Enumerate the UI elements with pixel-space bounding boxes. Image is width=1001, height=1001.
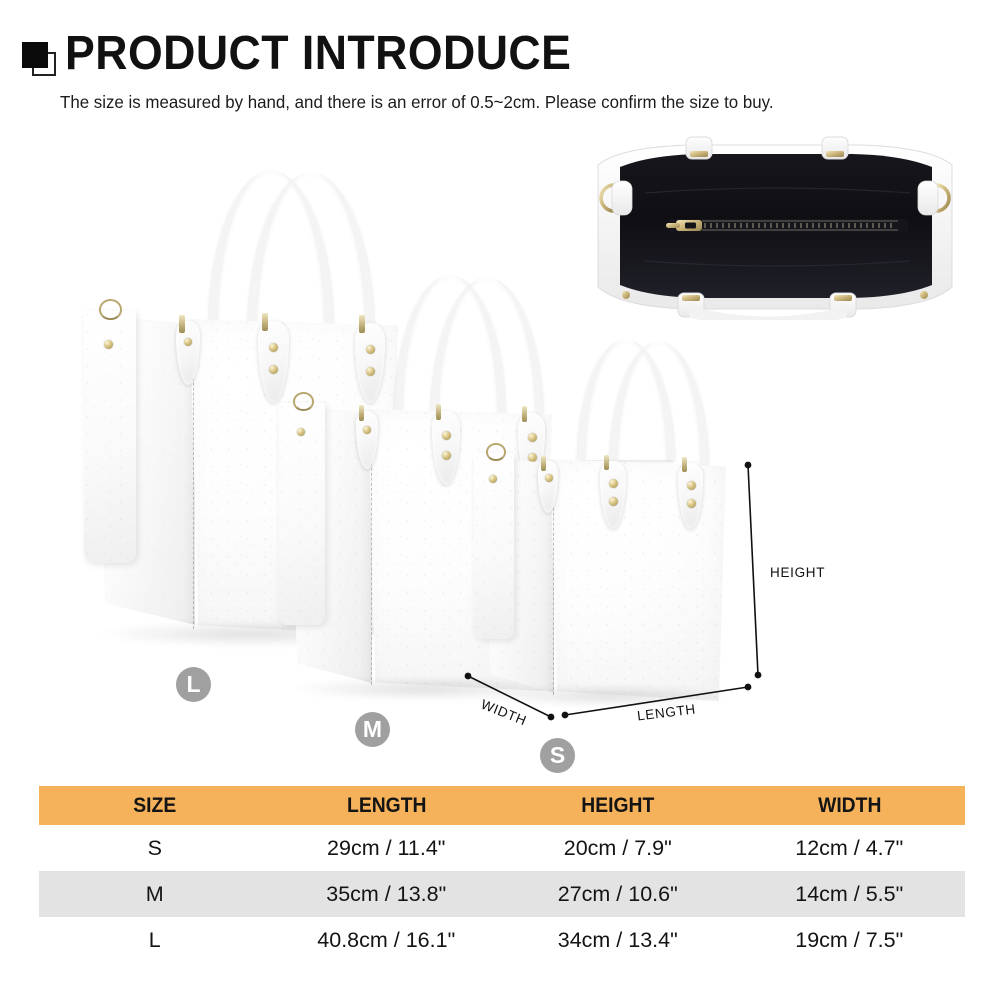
table-row: S 29cm / 11.4" 20cm / 7.9" 12cm / 4.7" <box>39 825 965 871</box>
size-badge-label: M <box>363 718 382 741</box>
cell-width: 19cm / 7.5" <box>734 917 966 963</box>
height-label: HEIGHT <box>770 565 825 580</box>
interior-illustration <box>590 135 960 320</box>
cell-height: 34cm / 13.4" <box>502 917 734 963</box>
rivet <box>687 499 696 508</box>
size-table: SIZE LENGTH HEIGHT WIDTH S 29cm / 11.4" … <box>39 786 965 963</box>
handle-bar <box>682 457 687 472</box>
handle-tab <box>822 137 848 159</box>
rivet <box>269 343 278 352</box>
cell-size: S <box>39 825 271 871</box>
handle-bar <box>359 405 364 421</box>
table-row: M 35cm / 13.8" 27cm / 10.6" 14cm / 5.5" <box>39 871 965 917</box>
bag-interior-inset <box>590 135 960 320</box>
size-badge-large: L <box>176 667 211 702</box>
handle-bar <box>436 404 441 420</box>
handle-bar <box>541 456 546 471</box>
d-ring-icon <box>293 392 314 411</box>
size-badge-medium: M <box>355 712 390 747</box>
rivet <box>442 431 451 440</box>
rivet <box>609 479 618 488</box>
product-introduce-page: PRODUCT INTRODUCE The size is measured b… <box>0 0 1001 1001</box>
cell-width: 14cm / 5.5" <box>734 871 966 917</box>
rivet <box>366 345 375 354</box>
rivet <box>545 474 553 482</box>
rivet <box>442 451 451 460</box>
cell-size: M <box>39 871 271 917</box>
page-header: PRODUCT INTRODUCE The size is measured b… <box>0 0 1001 130</box>
rivet <box>609 497 618 506</box>
rivet <box>184 338 192 346</box>
page-subtitle: The size is measured by hand, and there … <box>60 92 774 113</box>
square-filled-shape <box>22 42 48 68</box>
rivet <box>687 481 696 490</box>
d-ring-icon <box>99 299 122 320</box>
handle-tab <box>686 137 712 159</box>
handle-bar <box>359 315 365 333</box>
cell-length: 29cm / 11.4" <box>271 825 503 871</box>
handle-bar <box>604 455 609 470</box>
rivet <box>528 453 537 462</box>
cell-height: 27cm / 10.6" <box>502 871 734 917</box>
metal-foot <box>920 291 928 299</box>
cell-length: 35cm / 13.8" <box>271 871 503 917</box>
size-badge-label: S <box>550 744 565 767</box>
height-dimension-line <box>748 465 758 675</box>
column-header-width: WIDTH <box>743 786 956 825</box>
table-row: L 40.8cm / 16.1" 34cm / 13.4" 19cm / 7.5… <box>39 917 965 963</box>
rivet <box>269 365 278 374</box>
cell-width: 12cm / 4.7" <box>734 825 966 871</box>
rivet <box>297 428 305 436</box>
product-photo-stage: HEIGHT LENGTH WIDTH L M S <box>0 125 1001 780</box>
d-ring-icon <box>486 443 506 461</box>
rivet <box>363 426 371 434</box>
cell-height: 20cm / 7.9" <box>502 825 734 871</box>
bag-large-side-flap <box>84 311 136 563</box>
column-header-size: SIZE <box>48 786 261 825</box>
cell-length: 40.8cm / 16.1" <box>271 917 503 963</box>
rivet <box>366 367 375 376</box>
column-header-length: LENGTH <box>280 786 493 825</box>
table-header-row: SIZE LENGTH HEIGHT WIDTH <box>39 786 965 825</box>
rivet <box>489 475 497 483</box>
rivet <box>104 340 113 349</box>
cell-size: L <box>39 917 271 963</box>
metal-foot <box>622 291 630 299</box>
bag-medium-side-flap <box>279 403 325 625</box>
two-squares-icon <box>22 42 58 78</box>
size-badge-small: S <box>540 738 575 773</box>
column-header-height: HEIGHT <box>511 786 724 825</box>
handle-bar <box>179 315 185 333</box>
rivet <box>528 433 537 442</box>
handle-bar <box>262 313 268 331</box>
size-badge-label: L <box>186 673 200 696</box>
page-title: PRODUCT INTRODUCE <box>65 30 571 78</box>
handle-bar <box>522 406 527 422</box>
